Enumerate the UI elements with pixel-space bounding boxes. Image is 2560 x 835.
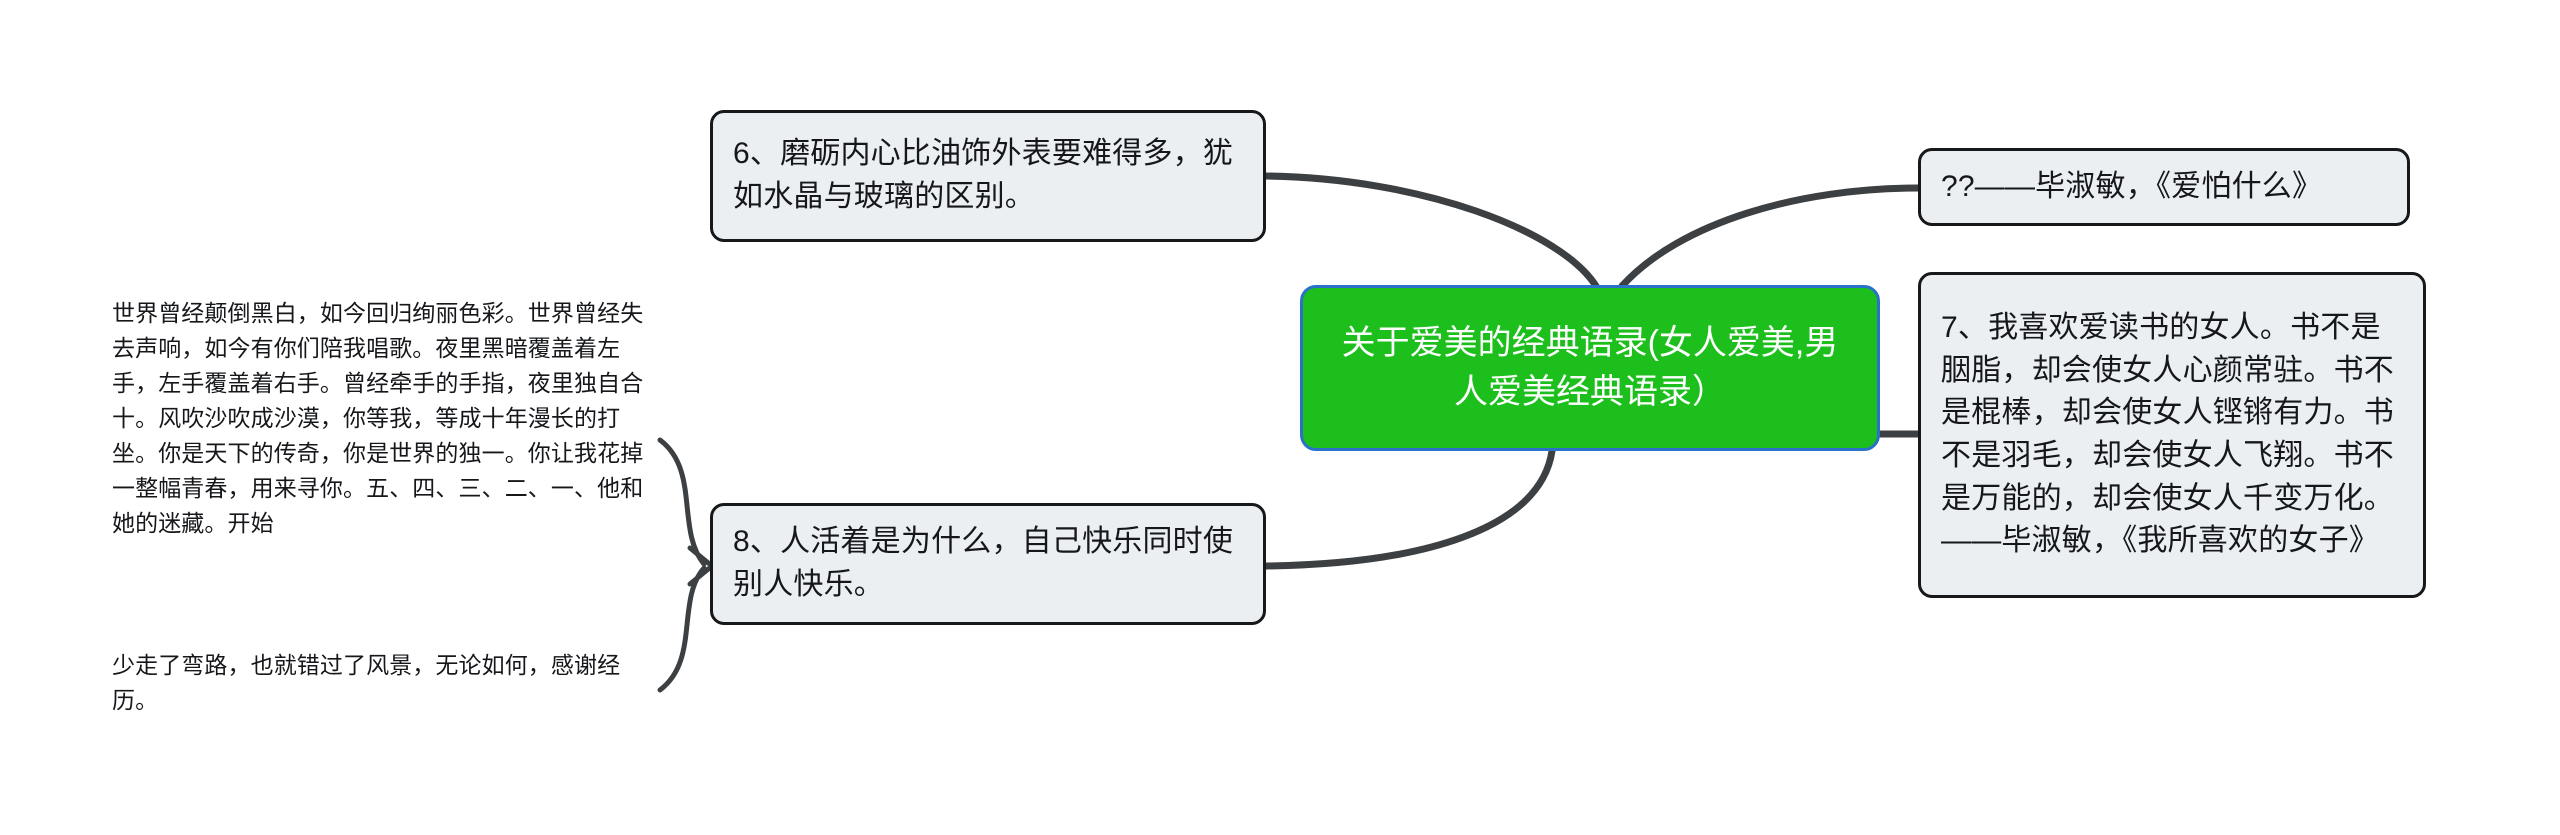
mindmap-free-text-block-2: 少走了弯路，也就错过了风景，无论如何，感谢经历。 <box>112 648 660 718</box>
mindmap-node-7[interactable]: 7、我喜欢爱读书的女人。书不是胭脂，却会使女人心颜常驻。书不是棍棒，却会使女人铿… <box>1918 272 2426 598</box>
mindmap-canvas: 6、磨砺内心比油饰外表要难得多，犹如水晶与玻璃的区别。 ??——毕淑敏，《爱怕什… <box>0 0 2560 835</box>
connector-root-to-node8 <box>1266 451 1552 566</box>
connector-node6-to-root <box>1266 176 1596 286</box>
connector-source-to-root <box>1622 188 1918 286</box>
mindmap-node-8[interactable]: 8、人活着是为什么，自己快乐同时使别人快乐。 <box>710 503 1266 625</box>
mindmap-root-node-label: 关于爱美的经典语录(女人爱美,男人爱美经典语录） <box>1325 319 1855 418</box>
mindmap-node-6-label: 6、磨砺内心比油饰外表要难得多，犹如水晶与玻璃的区别。 <box>733 133 1245 218</box>
mindmap-root-node[interactable]: 关于爱美的经典语录(女人爱美,男人爱美经典语录） <box>1300 285 1880 451</box>
mindmap-node-6[interactable]: 6、磨砺内心比油饰外表要难得多，犹如水晶与玻璃的区别。 <box>710 110 1266 242</box>
connector-freetext2-to-node8 <box>660 568 704 690</box>
connector-freetext1-to-node8 <box>660 440 704 564</box>
mindmap-free-text-block-1: 世界曾经颠倒黑白，如今回归绚丽色彩。世界曾经失去声响，如今有你们陪我唱歌。夜里黑… <box>112 296 660 541</box>
connector-arrowhead-node8 <box>690 548 712 584</box>
mindmap-node-7-label: 7、我喜欢爱读书的女人。书不是胭脂，却会使女人心颜常驻。书不是棍棒，却会使女人铿… <box>1941 307 2405 563</box>
mindmap-node-source-citation[interactable]: ??——毕淑敏，《爱怕什么》 <box>1918 148 2410 226</box>
mindmap-node-source-citation-label: ??——毕淑敏，《爱怕什么》 <box>1941 166 2389 209</box>
mindmap-node-8-label: 8、人活着是为什么，自己快乐同时使别人快乐。 <box>733 521 1245 606</box>
